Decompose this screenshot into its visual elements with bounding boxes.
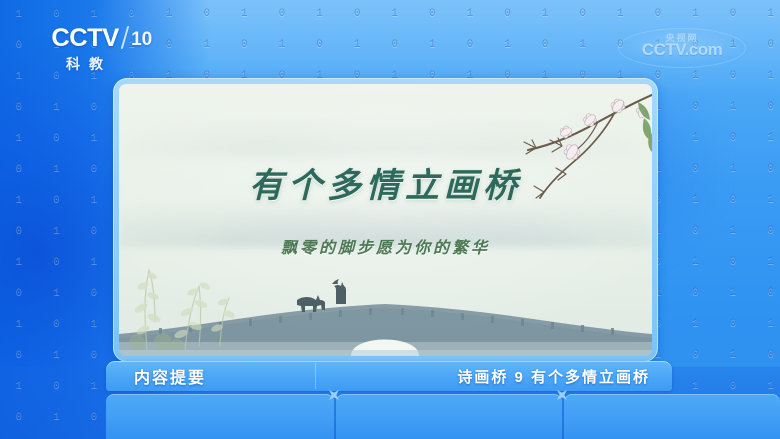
binary-row: 1010101010101010101010	[0, 8, 780, 20]
binary-digit: 0	[714, 132, 752, 144]
binary-digit: 1	[75, 132, 113, 144]
binary-digit: 0	[75, 225, 113, 237]
binary-digit: 0	[752, 101, 780, 113]
logo-subtitle: 科教	[66, 54, 170, 74]
banner-program-text: 诗画桥 9 有个多情立画桥	[457, 366, 650, 387]
bottom-panel-3	[564, 394, 780, 439]
binary-digit: 1	[38, 225, 76, 237]
binary-digit: 1	[0, 318, 38, 330]
binary-digit: 0	[0, 349, 38, 361]
binary-digit: 0	[338, 8, 376, 20]
binary-digit: 0	[376, 39, 414, 51]
binary-digit: 0	[714, 380, 752, 392]
binary-digit: 1	[526, 8, 564, 20]
binary-digit: 0	[714, 70, 752, 82]
binary-digit: 1	[752, 318, 780, 330]
binary-digit: 0	[75, 101, 113, 113]
binary-digit: 1	[714, 101, 752, 113]
binary-digit: 1	[338, 39, 376, 51]
binary-digit: 0	[489, 8, 527, 20]
binary-digit: 1	[38, 287, 76, 299]
binary-digit: 1	[602, 8, 640, 20]
binary-digit: 0	[677, 349, 715, 361]
logo-channel-number: 10	[131, 30, 152, 50]
cctv-10-logo: CCTV 10 科教	[52, 24, 170, 76]
binary-digit: 1	[0, 132, 38, 144]
binary-digit: 1	[752, 132, 780, 144]
binary-digit: 1	[752, 70, 780, 82]
binary-digit: 0	[714, 194, 752, 206]
watermark-en-text: CCTV.com	[618, 40, 746, 60]
binary-digit: 1	[677, 8, 715, 20]
logo-separator-icon	[121, 26, 130, 49]
banner-label-text: 内容提要	[134, 364, 206, 388]
binary-digit: 0	[414, 8, 452, 20]
binary-digit: 0	[752, 163, 780, 175]
binary-digit: 1	[0, 194, 38, 206]
binary-digit: 0	[677, 287, 715, 299]
binary-digit: 1	[489, 39, 527, 51]
binary-digit: 0	[301, 39, 339, 51]
binary-digit: 1	[0, 380, 38, 392]
video-panel-frame: 有个多情立画桥 飘零的脚步愿为你的繁华	[113, 78, 658, 362]
binary-digit: 1	[677, 380, 715, 392]
binary-digit: 0	[564, 8, 602, 20]
binary-digit: 1	[0, 8, 38, 20]
binary-digit: 1	[714, 225, 752, 237]
binary-digit: 0	[75, 349, 113, 361]
binary-digit: 0	[714, 256, 752, 268]
binary-digit: 0	[38, 380, 76, 392]
binary-digit: 0	[0, 39, 38, 51]
bottom-panel-1	[106, 394, 334, 439]
binary-digit: 0	[526, 39, 564, 51]
banner-segment-label: 内容提要	[106, 361, 316, 391]
binary-digit: 0	[0, 101, 38, 113]
binary-digit: 1	[75, 194, 113, 206]
binary-digit: 0	[677, 163, 715, 175]
program-title: 有个多情立画桥	[119, 158, 652, 207]
binary-digit: 1	[677, 194, 715, 206]
binary-digit: 0	[0, 287, 38, 299]
binary-digit: 0	[714, 8, 752, 20]
binary-digit: 0	[677, 225, 715, 237]
binary-digit: 1	[677, 132, 715, 144]
video-content: 有个多情立画桥 飘零的脚步愿为你的繁华	[119, 84, 652, 356]
binary-digit: 1	[0, 256, 38, 268]
binary-digit: 1	[677, 318, 715, 330]
binary-digit: 0	[188, 8, 226, 20]
binary-digit: 1	[714, 349, 752, 361]
binary-digit: 1	[75, 8, 113, 20]
binary-digit: 1	[752, 256, 780, 268]
binary-digit: 0	[263, 8, 301, 20]
logo-row: CCTV 10	[52, 24, 170, 50]
bottom-panel-2	[336, 394, 562, 439]
binary-digit: 0	[752, 225, 780, 237]
binary-digit: 0	[38, 8, 76, 20]
binary-digit: 1	[752, 194, 780, 206]
binary-digit: 1	[752, 380, 780, 392]
binary-digit: 1	[188, 39, 226, 51]
logo-cctv-text: CCTV	[51, 26, 118, 50]
willow-foliage-icon	[125, 242, 255, 350]
binary-digit: 1	[38, 163, 76, 175]
binary-digit: 1	[714, 163, 752, 175]
binary-digit: 1	[414, 39, 452, 51]
binary-digit: 0	[38, 318, 76, 330]
binary-digit: 0	[0, 411, 38, 423]
binary-digit: 1	[376, 8, 414, 20]
binary-digit: 0	[75, 287, 113, 299]
binary-digit: 1	[263, 39, 301, 51]
binary-digit: 0	[714, 318, 752, 330]
binary-digit: 1	[451, 8, 489, 20]
binary-digit: 1	[301, 8, 339, 20]
banner-segment-program: 诗画桥 9 有个多情立画桥	[316, 361, 672, 391]
bottom-panel-row	[106, 394, 780, 439]
cctv-com-watermark: 央视网 CCTV.com	[618, 28, 746, 68]
binary-digit: 0	[75, 163, 113, 175]
binary-digit: 0	[451, 39, 489, 51]
binary-digit: 0	[677, 101, 715, 113]
binary-digit: 0	[226, 39, 264, 51]
binary-digit: 0	[0, 163, 38, 175]
binary-digit: 1	[677, 256, 715, 268]
binary-digit: 1	[714, 287, 752, 299]
binary-digit: 1	[0, 70, 38, 82]
binary-digit: 1	[150, 8, 188, 20]
tv-broadcast-screen: 1010101010101010101010010101010101010101…	[0, 0, 780, 439]
binary-digit: 1	[226, 8, 264, 20]
binary-digit: 0	[38, 256, 76, 268]
binary-digit: 0	[752, 287, 780, 299]
binary-digit: 1	[38, 101, 76, 113]
binary-digit: 1	[75, 256, 113, 268]
binary-digit: 0	[38, 194, 76, 206]
bottom-info-banner: 内容提要 诗画桥 9 有个多情立画桥	[106, 361, 672, 391]
binary-digit: 0	[113, 8, 151, 20]
binary-digit: 0	[38, 132, 76, 144]
binary-digit: 1	[38, 411, 76, 423]
binary-digit: 1	[677, 70, 715, 82]
binary-digit: 0	[639, 8, 677, 20]
binary-digit: 0	[752, 349, 780, 361]
binary-digit: 1	[38, 349, 76, 361]
binary-digit: 1	[75, 318, 113, 330]
binary-digit: 1	[564, 39, 602, 51]
binary-digit: 0	[752, 39, 780, 51]
binary-digit: 0	[0, 225, 38, 237]
binary-digit: 1	[752, 8, 780, 20]
